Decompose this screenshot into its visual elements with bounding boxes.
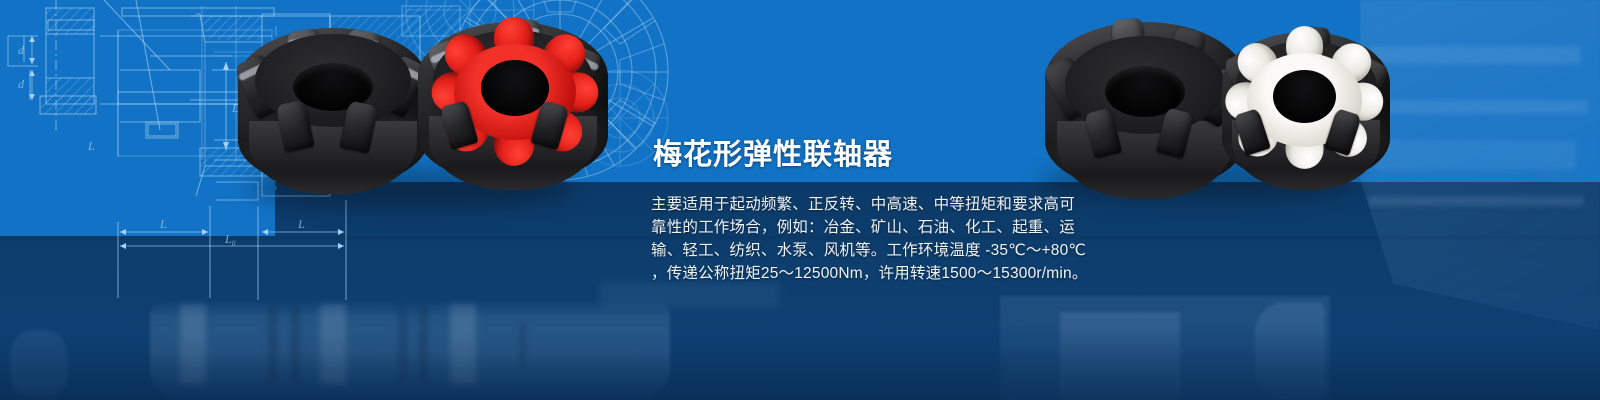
jaw-coupling-hub-plain bbox=[238, 28, 428, 188]
description-line-2: 靠性的工作场合，例如：冶金、矿山、石油、化工、起重、运 bbox=[651, 216, 1071, 239]
bottom-vignette bbox=[0, 330, 1600, 400]
product-banner: d d D L L L₀ L bbox=[0, 0, 1600, 400]
description-line-1: 主要适用于起动频繁、正反转、中高速、中等扭矩和要求高可 bbox=[651, 193, 1071, 216]
blueprint-label-L3: L bbox=[87, 139, 95, 153]
banner-title: 梅花形弹性联轴器 bbox=[653, 140, 893, 170]
description-line-4: ，传递公称扭矩25～12500Nm，许用转速1500～15300r/min。 bbox=[651, 262, 1071, 285]
blueprint-label-L1: L bbox=[159, 217, 167, 231]
description-line-3: 输、轻工、纺织、水泵、风机等。工作环境温度 -35℃～+80℃ bbox=[651, 239, 1071, 262]
banner-description: 主要适用于起动频繁、正反转、中高速、中等扭矩和要求高可 靠性的工作场合，例如：冶… bbox=[651, 193, 1071, 285]
blueprint-label-d2: d bbox=[18, 77, 25, 91]
blueprint-label-L0: L₀ bbox=[224, 232, 236, 246]
jaw-coupling-hub-right bbox=[1045, 22, 1245, 192]
jaw-coupling-with-white-spider bbox=[1222, 32, 1390, 184]
jaw-coupling-with-red-spider bbox=[418, 22, 608, 184]
blueprint-label-d1: d bbox=[18, 43, 25, 57]
blueprint-label-L2: L bbox=[297, 217, 305, 231]
